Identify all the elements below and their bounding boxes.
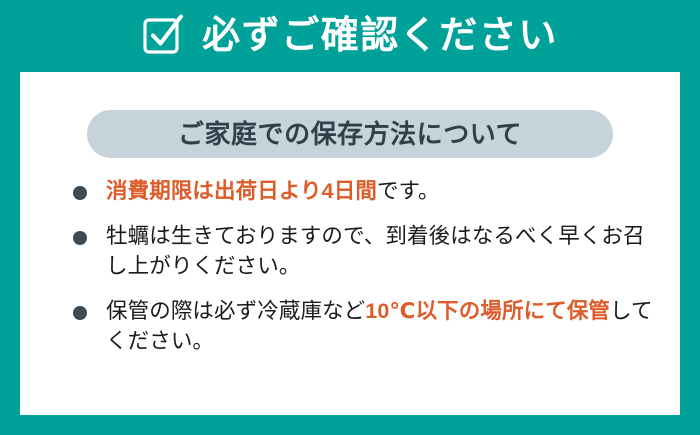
list-item-segment-highlight: 10℃以下の場所にて保管 bbox=[365, 299, 610, 323]
list-item-text: 保管の際は必ず冷蔵庫など10℃以下の場所にて保管してください。 bbox=[106, 296, 663, 357]
list-item-text: 消費期限は出荷日より4日間です。 bbox=[106, 176, 663, 207]
section-heading-label: ご家庭での保存方法について bbox=[178, 121, 522, 147]
list-item: 牡蠣は生きておりますので、到着後はなるべく早くお召し上がりください。 bbox=[73, 221, 663, 282]
list-item-segment-plain: です。 bbox=[377, 179, 440, 203]
bullet-dot-icon bbox=[73, 186, 87, 200]
checkbox-checked-icon bbox=[142, 13, 184, 57]
bullet-dot-icon bbox=[73, 306, 87, 320]
page-title: 必ずご確認ください bbox=[202, 17, 558, 55]
notice-poster: 必ずご確認ください ご家庭での保存方法について 消費期限は出荷日より4日間です。… bbox=[0, 0, 700, 435]
list-item: 保管の際は必ず冷蔵庫など10℃以下の場所にて保管してください。 bbox=[73, 296, 663, 357]
section-heading-pill: ご家庭での保存方法について bbox=[87, 110, 613, 158]
notice-list: 消費期限は出荷日より4日間です。 牡蠣は生きておりますので、到着後はなるべく早く… bbox=[73, 176, 663, 357]
list-item-segment-highlight: 消費期限は出荷日より4日間 bbox=[106, 179, 377, 203]
list-item: 消費期限は出荷日より4日間です。 bbox=[73, 176, 663, 207]
bullet-dot-icon bbox=[73, 231, 87, 245]
list-item-segment-plain: 牡蠣は生きておりますので、到着後はなるべく早くお召し上がりください。 bbox=[106, 224, 645, 279]
poster-header: 必ずご確認ください bbox=[0, 0, 700, 72]
list-item-text: 牡蠣は生きておりますので、到着後はなるべく早くお召し上がりください。 bbox=[106, 221, 663, 282]
list-item-segment-plain: 保管の際は必ず冷蔵庫など bbox=[106, 299, 365, 323]
content-card: ご家庭での保存方法について 消費期限は出荷日より4日間です。 牡蠣は生きておりま… bbox=[20, 72, 680, 415]
